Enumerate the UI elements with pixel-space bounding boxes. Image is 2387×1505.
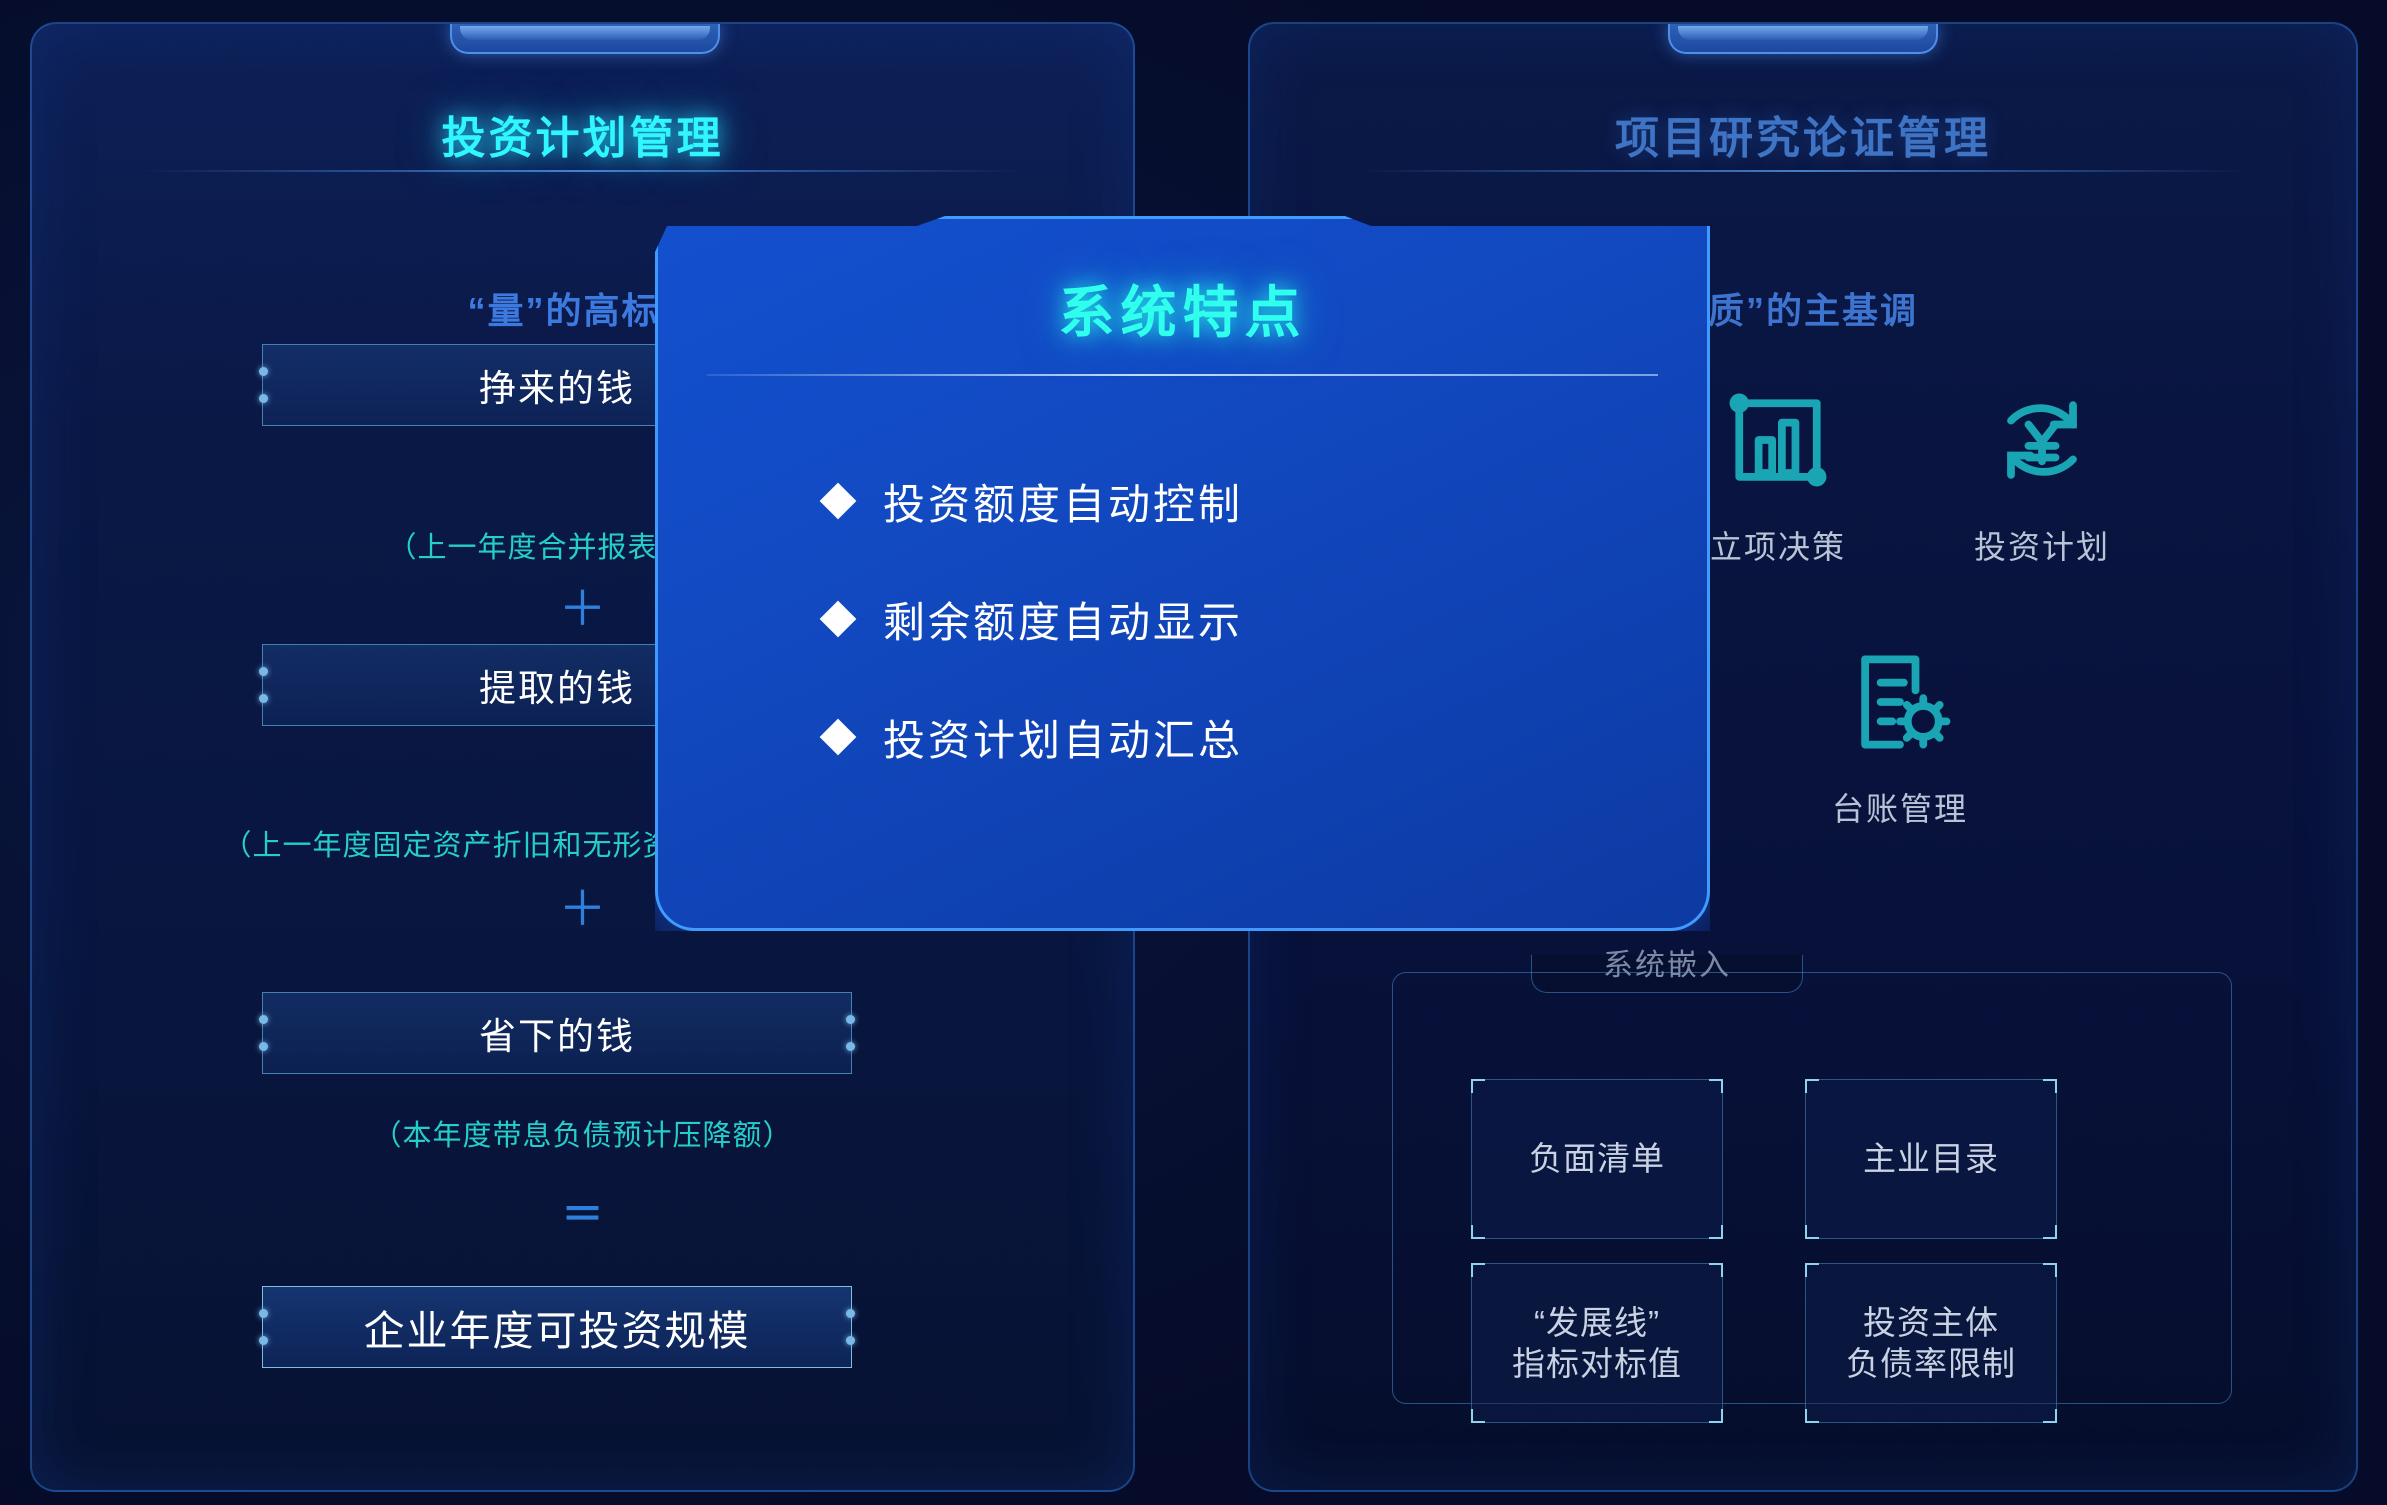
popup-title: 系统特点: [655, 268, 1710, 349]
icon-cell-ledger-management[interactable]: 台账管理: [1780, 636, 2020, 830]
corner-mark: [1709, 1409, 1723, 1423]
embed-cell-development-line[interactable]: “发展线” 指标对标值: [1471, 1263, 1723, 1423]
node-dot: [846, 1042, 855, 1051]
node-dot: [846, 1309, 855, 1318]
node-dot: [846, 1336, 855, 1345]
diamond-bullet-icon: [820, 483, 857, 520]
corner-mark: [2043, 1263, 2057, 1277]
embed-cell-investor-debt-limit[interactable]: 投资主体 负债率限制: [1805, 1263, 2057, 1423]
popup-item-label: 投资计划自动汇总: [883, 707, 1243, 768]
panel-left-title: 投资计划管理: [32, 102, 1133, 166]
embed-cell-label: 负面清单: [1529, 1138, 1665, 1179]
node-dot: [259, 1015, 268, 1024]
calc-op-equals: ＝: [32, 1194, 1133, 1236]
icon-cell-label: 台账管理: [1780, 784, 2020, 830]
system-features-popup[interactable]: 系统特点 投资额度自动控制 剩余额度自动显示 投资计划自动汇总: [655, 216, 1710, 931]
corner-mark: [1709, 1263, 1723, 1277]
node-dot: [259, 367, 268, 376]
diamond-bullet-icon: [820, 719, 857, 756]
embed-cell-main-business-catalog[interactable]: 主业目录: [1805, 1079, 2057, 1239]
node-dot: [259, 694, 268, 703]
node-dot: [259, 1336, 268, 1345]
ledger-gear-icon: [1780, 636, 2020, 768]
icon-cell-investment-plan[interactable]: 投资计划: [1922, 374, 2162, 568]
popup-list-item: 剩余额度自动显示: [825, 578, 1650, 660]
corner-mark: [1471, 1225, 1485, 1239]
corner-mark: [1709, 1079, 1723, 1093]
corner-mark: [2043, 1079, 2057, 1093]
panel-right-folder-tab: [1668, 22, 1938, 54]
corner-mark: [1471, 1409, 1485, 1423]
node-dot: [259, 667, 268, 676]
embed-cell-label-line1: 投资主体: [1863, 1302, 1999, 1343]
folder-tab-highlight: [460, 26, 710, 40]
popup-list-item: 投资额度自动控制: [825, 460, 1650, 542]
panel-left-title-divider: [140, 170, 1025, 172]
diamond-bullet-icon: [820, 601, 857, 638]
node-dot: [259, 1042, 268, 1051]
embed-cell-label-line2: 指标对标值: [1512, 1343, 1682, 1384]
corner-mark: [2043, 1409, 2057, 1423]
popup-feature-list: 投资额度自动控制 剩余额度自动显示 投资计划自动汇总: [825, 460, 1650, 814]
calc-box-label: 省下的钱: [479, 1006, 635, 1060]
corner-mark: [1805, 1409, 1819, 1423]
system-embed-group: 负面清单 主业目录 “发展线” 指标对标值 投资主体 负债率限制: [1392, 972, 2232, 1404]
popup-item-label: 投资额度自动控制: [883, 471, 1243, 532]
embed-cell-label-line1: “发展线”: [1534, 1302, 1660, 1343]
system-embed-label: 系统嵌入: [1531, 940, 1803, 984]
node-dot: [259, 1309, 268, 1318]
corner-mark: [1471, 1263, 1485, 1277]
calc-box-label: 挣来的钱: [479, 358, 635, 412]
panel-right-title-divider: [1358, 170, 2248, 172]
panel-right-title: 项目研究论证管理: [1250, 102, 2356, 166]
popup-list-item: 投资计划自动汇总: [825, 696, 1650, 778]
calc-box-label: 企业年度可投资规模: [364, 1297, 751, 1357]
panel-left-folder-tab: [450, 22, 720, 54]
embed-cell-label-line2: 负债率限制: [1846, 1343, 2016, 1384]
corner-mark: [1805, 1079, 1819, 1093]
calc-box-label: 提取的钱: [479, 658, 635, 712]
calc-note-saved: （本年度带息负债预计压降额）: [32, 1112, 1133, 1154]
node-dot: [846, 1015, 855, 1024]
folder-tab-highlight: [1678, 26, 1928, 40]
embed-cell-label: 主业目录: [1863, 1138, 1999, 1179]
embed-cell-negative-list[interactable]: 负面清单: [1471, 1079, 1723, 1239]
calc-box-result[interactable]: 企业年度可投资规模: [262, 1286, 852, 1368]
corner-mark: [1805, 1263, 1819, 1277]
corner-mark: [1709, 1225, 1723, 1239]
calc-box-saved[interactable]: 省下的钱: [262, 992, 852, 1074]
corner-mark: [1471, 1079, 1485, 1093]
slide-canvas: 投资计划管理 “量”的高标准 挣来的钱 （上一年度合并报表净利润） ＋ 提取的钱…: [0, 0, 2387, 1505]
corner-mark: [2043, 1225, 2057, 1239]
yen-recycle-icon: [1922, 374, 2162, 506]
corner-mark: [1805, 1225, 1819, 1239]
node-dot: [259, 394, 268, 403]
popup-item-label: 剩余额度自动显示: [883, 589, 1243, 650]
icon-cell-label: 投资计划: [1922, 522, 2162, 568]
popup-title-divider: [707, 374, 1658, 376]
